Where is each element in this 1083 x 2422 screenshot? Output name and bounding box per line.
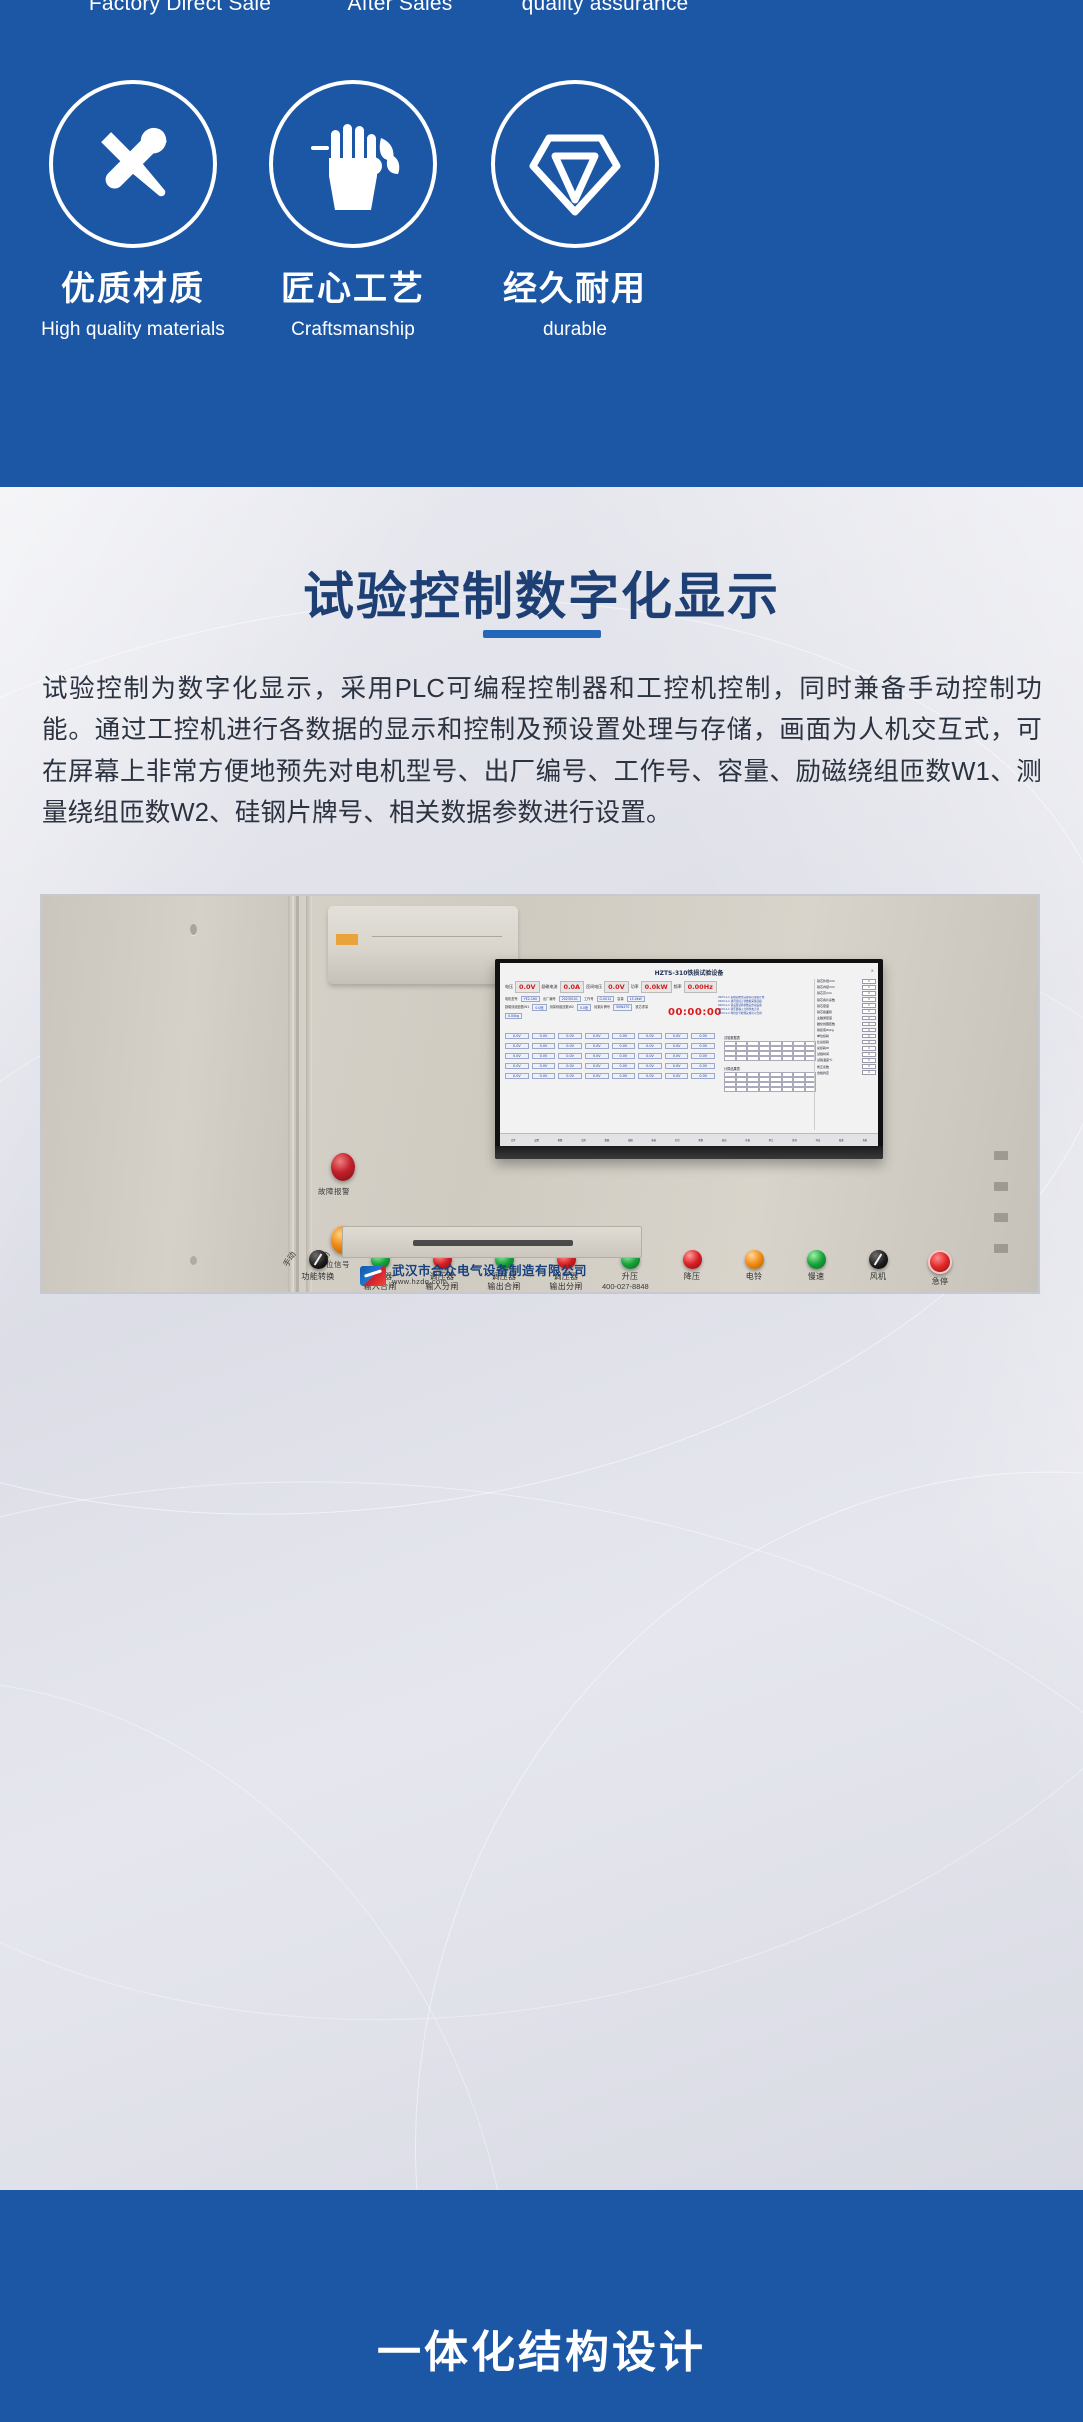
log-line: 2023-1-1 零位信号检测完成可以合闸 — [718, 1012, 818, 1016]
hmi-side-panel: 铁芯外径mm0 铁芯内径mm0 铁芯高mm0 铁芯叠片系数0 铁芯密度0 铁芯截… — [814, 979, 876, 1130]
manufacturer-brand: 武汉市合众电气设备制造有限公司 www.hzdq.com — [360, 1264, 587, 1287]
side-value[interactable]: 0 — [862, 1058, 876, 1063]
table-cell — [736, 1087, 748, 1092]
company-logo-icon — [360, 1266, 386, 1286]
taskbar-label: 参数 — [549, 1138, 571, 1142]
side-label: 比总损耗 — [817, 1040, 829, 1044]
side-label: 修正系数 — [817, 1065, 829, 1069]
cabinet-drawer[interactable] — [342, 1226, 642, 1258]
table-cell — [759, 1056, 771, 1061]
taskbar-button[interactable]: 退出 — [713, 1138, 735, 1142]
taskbar-button[interactable]: 试验 — [572, 1138, 594, 1142]
grid-cell: 0.0V — [665, 1053, 689, 1059]
table-row — [724, 1056, 816, 1061]
hmi-event-log: 2023-1-1 系统初始化完成等待试验开始 2023-1-1 通讯连接正常数据… — [718, 996, 818, 1026]
taskbar-label: 数据 — [596, 1138, 618, 1142]
table-cell — [770, 1056, 782, 1061]
meter-value-freq: 0.00Hz — [684, 981, 717, 993]
taskbar-button[interactable]: 打印 — [666, 1138, 688, 1142]
side-row: 铁芯高mm0 — [817, 991, 876, 996]
param-value[interactable]: 0.0匝 — [532, 1004, 546, 1011]
button-slow-speed[interactable]: 慢速 — [786, 1250, 846, 1282]
feature-columns: 优质材质 High quality materials — [0, 80, 1083, 400]
table-cell — [793, 1056, 805, 1061]
hmi-data-table: 试验数据表 计算结果表 — [724, 1035, 816, 1092]
control-cabinet-photo: HZTS-310铁损试验设备 × 电压 0.0V 励磁电流 0.0A 匝间电压 … — [40, 894, 1040, 1294]
fault-alarm-label: 故障报警 — [318, 1186, 350, 1197]
grid-cell: 0.0V — [612, 1073, 636, 1079]
button-emergency-stop[interactable]: 急停 — [910, 1250, 970, 1287]
diamond-check-icon — [491, 80, 659, 248]
param-label: 电机型号 — [505, 996, 518, 1002]
cabinet-left-door — [42, 896, 299, 1294]
param-label: 工作号 — [584, 996, 594, 1002]
vent-slot — [994, 1151, 1008, 1160]
grid-cell: 0.0V — [505, 1073, 529, 1079]
taskbar-button[interactable]: 帮助 — [690, 1138, 712, 1142]
feature-label-en-craftsmanship: Craftsmanship — [238, 319, 468, 341]
taskbar-button[interactable]: 查询 — [783, 1138, 805, 1142]
taskbar-label: 退出 — [713, 1138, 735, 1142]
grid-cell: 0.0V — [665, 1033, 689, 1039]
side-value[interactable]: 0 — [862, 1040, 876, 1045]
grid-cell: 0.0V — [558, 1063, 582, 1069]
taskbar-button[interactable]: 参数 — [549, 1138, 571, 1142]
feature-item-craftsmanship: 匠心工艺 Craftsmanship — [238, 80, 468, 341]
vent-slot — [994, 1244, 1008, 1253]
param-value[interactable]: YE2-160 — [521, 996, 540, 1002]
side-row: 铁芯内径mm0 — [817, 985, 876, 990]
grid-cell: 0.0V — [558, 1043, 582, 1049]
grid-cell: 0.0V — [665, 1063, 689, 1069]
side-label: 合格判定 — [817, 1071, 829, 1075]
side-value[interactable]: 0 — [862, 1016, 876, 1021]
table-cell — [770, 1087, 782, 1092]
bottom-section-band: 一体化结构设计 — [0, 2190, 1083, 2422]
handle-seam — [372, 936, 502, 937]
taskbar-button[interactable]: 系统 — [854, 1138, 876, 1142]
cabinet-lock-icon — [190, 924, 197, 935]
table-cell — [736, 1056, 748, 1061]
taskbar-button[interactable]: 曲线 — [619, 1138, 641, 1142]
side-label: 磁化线圈匝数 — [817, 1022, 835, 1026]
side-value[interactable]: 0 — [862, 1028, 876, 1033]
taskbar-button[interactable]: 导出 — [807, 1138, 829, 1142]
header-quality-assurance: quality assurance — [455, 0, 755, 16]
brand-text-block: 武汉市合众电气设备制造有限公司 www.hzdq.com — [392, 1264, 587, 1287]
feature-label-en-durable: durable — [460, 319, 690, 341]
grid-cell: 0.0V — [505, 1043, 529, 1049]
side-value[interactable]: 0 — [862, 979, 876, 984]
param-label: 励磁绕组匝数W1 — [505, 1004, 529, 1011]
grid-cell: 0.0V — [691, 1073, 715, 1079]
grid-cell: 0.0V — [585, 1073, 609, 1079]
grid-cell: 0.0V — [612, 1033, 636, 1039]
top-english-headers: Factory Direct Sale After Sales quality … — [0, 0, 1083, 26]
taskbar-button[interactable]: 校准 — [830, 1138, 852, 1142]
cabinet-lock-icon — [190, 1256, 197, 1265]
section-body-text: 试验控制为数字化显示，采用PLC可编程控制器和工控机控制，同时兼备手动控制功能。… — [42, 669, 1042, 834]
side-value[interactable]: 0 — [862, 1022, 876, 1027]
side-row: 总损耗W0 — [817, 1046, 876, 1051]
taskbar-label: 系统 — [854, 1138, 876, 1142]
side-row: 铁芯密度0 — [817, 1003, 876, 1008]
meter-label-current: 励磁电流 — [542, 984, 558, 990]
param-label: 测量绕组匝数W2 — [550, 1004, 574, 1011]
grid-cell: 0.0V — [638, 1063, 662, 1069]
param-value[interactable]: G-0012 — [597, 996, 615, 1002]
side-label: 主磁通密度 — [817, 1016, 832, 1020]
taskbar-button[interactable]: 文件 — [502, 1138, 524, 1142]
taskbar-label: 文件 — [502, 1138, 524, 1142]
button-fan[interactable]: 风机 — [848, 1250, 908, 1282]
meter-label-turnvolt: 匝间电压 — [586, 984, 602, 990]
taskbar-label: 帮助 — [690, 1138, 712, 1142]
hmi-taskbar: 文件 设置 参数 试验 数据 曲线 报表 打印 帮助 退出 开始 停止 查询 导… — [500, 1133, 878, 1146]
result-table-title: 计算结果表 — [724, 1066, 816, 1071]
side-row: 铁损值W/kg0 — [817, 1028, 876, 1033]
meter-label-voltage: 电压 — [505, 984, 513, 990]
side-row: 比总损耗0 — [817, 1040, 876, 1045]
side-value[interactable]: 0 — [862, 1052, 876, 1057]
section-underline — [483, 630, 601, 638]
table-cell — [793, 1087, 805, 1092]
feature-label-cn-materials: 优质材质 — [18, 270, 248, 309]
grid-cell: 0.0V — [505, 1053, 529, 1059]
side-value[interactable]: 0 — [862, 991, 876, 996]
grid-cell: 0.0V — [585, 1053, 609, 1059]
taskbar-label: 查询 — [783, 1138, 805, 1142]
button-label: 功能转换 — [288, 1272, 348, 1282]
param-value[interactable]: 20230101 — [559, 996, 581, 1002]
table-cell — [724, 1087, 736, 1092]
side-value[interactable]: 0 — [862, 1009, 876, 1014]
side-value[interactable]: 0 — [862, 1064, 876, 1069]
company-name: 武汉市合众电气设备制造有限公司 — [392, 1264, 587, 1278]
grid-cell: 0.0V — [532, 1053, 556, 1059]
grid-cell: 0.0V — [691, 1053, 715, 1059]
side-label: 铁芯密度 — [817, 1004, 829, 1008]
top-feature-band: Factory Direct Sale After Sales quality … — [0, 0, 1083, 487]
side-label: 铁损值W/kg — [817, 1028, 834, 1032]
table-cell — [782, 1056, 794, 1061]
side-label: 总损耗W — [817, 1046, 829, 1050]
grid-cell: 0.0V — [612, 1043, 636, 1049]
button-label: 升压 — [600, 1272, 660, 1282]
table-cell — [759, 1087, 771, 1092]
hmi-close-icon[interactable]: × — [871, 968, 874, 973]
cabinet-top-handle — [328, 906, 518, 984]
industrial-pc-monitor: HZTS-310铁损试验设备 × 电压 0.0V 励磁电流 0.0A 匝间电压 … — [495, 959, 883, 1159]
side-value[interactable]: 0 — [862, 997, 876, 1002]
green-lamp-icon — [807, 1250, 826, 1269]
grid-cell: 0.0V — [532, 1073, 556, 1079]
grid-cell: 0.0V — [665, 1043, 689, 1049]
param-value[interactable]: 0.00kg — [505, 1013, 522, 1019]
taskbar-button[interactable]: 开始 — [736, 1138, 758, 1142]
side-value[interactable]: 0 — [862, 985, 876, 990]
red-lamp-icon — [683, 1250, 702, 1269]
button-label: 慢速 — [786, 1272, 846, 1282]
grid-cell: 0.0V — [638, 1043, 662, 1049]
button-function-switch[interactable]: 功能转换 — [288, 1250, 348, 1282]
button-label: 急停 — [910, 1277, 970, 1287]
taskbar-label: 停止 — [760, 1138, 782, 1142]
taskbar-label: 试验 — [572, 1138, 594, 1142]
company-phone: 400-027-8848 — [602, 1282, 649, 1291]
grid-row: 0.0V 0.0V 0.0V 0.0V 0.0V 0.0V 0.0V 0.0V — [505, 1043, 715, 1049]
side-row: 铁芯叠片系数0 — [817, 997, 876, 1002]
warning-label — [336, 934, 358, 945]
hmi-parameter-chips: 电机型号 YE2-160 出厂编号 20230101 工作号 G-0012 容量… — [505, 996, 655, 1019]
tools-wrench-screwdriver-icon — [49, 80, 217, 248]
hmi-screen: HZTS-310铁损试验设备 × 电压 0.0V 励磁电流 0.0A 匝间电压 … — [500, 963, 878, 1146]
hmi-elapsed-timer: 00:00:00 — [668, 1007, 722, 1018]
grid-cell: 0.0V — [665, 1073, 689, 1079]
grid-cell: 0.0V — [532, 1033, 556, 1039]
grid-cell: 0.0V — [585, 1063, 609, 1069]
button-label: 电铃 — [724, 1272, 784, 1282]
grid-row: 0.0V 0.0V 0.0V 0.0V 0.0V 0.0V 0.0V 0.0V — [505, 1033, 715, 1039]
side-label: 铁芯高mm — [817, 991, 832, 995]
side-row: 铁芯外径mm0 — [817, 979, 876, 984]
button-label: 降压 — [662, 1272, 722, 1282]
grid-cell: 0.0V — [691, 1033, 715, 1039]
taskbar-label: 打印 — [666, 1138, 688, 1142]
monitor-bezel — [495, 1146, 883, 1159]
taskbar-button[interactable]: 设置 — [525, 1138, 547, 1142]
grid-cell: 0.0V — [505, 1033, 529, 1039]
grid-cell: 0.0V — [585, 1043, 609, 1049]
grid-row: 0.0V 0.0V 0.0V 0.0V 0.0V 0.0V 0.0V 0.0V — [505, 1053, 715, 1059]
grid-cell: 0.0V — [638, 1073, 662, 1079]
grid-cell: 0.0V — [558, 1053, 582, 1059]
side-label: 试验时间 — [817, 1052, 829, 1056]
orange-lamp-icon — [745, 1250, 764, 1269]
taskbar-button[interactable]: 数据 — [596, 1138, 618, 1142]
side-label: 铁芯外径mm — [817, 979, 835, 983]
grid-cell: 0.0V — [612, 1063, 636, 1069]
meter-label-power: 功率 — [631, 984, 639, 990]
taskbar-button[interactable]: 报表 — [643, 1138, 665, 1142]
side-row: 合格判定0 — [817, 1070, 876, 1075]
side-value[interactable]: 0 — [862, 1070, 876, 1075]
grid-cell: 0.0V — [505, 1063, 529, 1069]
param-value[interactable]: 15.0kW — [627, 996, 645, 1002]
feature-label-cn-craftsmanship: 匠心工艺 — [238, 270, 468, 309]
bottom-section-title: 一体化结构设计 — [0, 2316, 1083, 2380]
vent-slot — [994, 1213, 1008, 1222]
cabinet-door-seam — [306, 896, 312, 1294]
button-label: 风机 — [848, 1272, 908, 1282]
meter-value-voltage: 0.0V — [515, 981, 540, 993]
grid-cell: 0.0V — [612, 1053, 636, 1059]
table-cell — [747, 1087, 759, 1092]
taskbar-label: 校准 — [830, 1138, 852, 1142]
feature-item-durable: 经久耐用 durable — [460, 80, 690, 341]
table-cell — [782, 1087, 794, 1092]
side-value[interactable]: 0 — [862, 1034, 876, 1039]
taskbar-label: 导出 — [807, 1138, 829, 1142]
table-cell — [747, 1056, 759, 1061]
side-label: 铁芯内径mm — [817, 985, 835, 989]
param-value[interactable]: 0.0匝 — [577, 1004, 591, 1011]
side-label: 单位损耗 — [817, 1034, 829, 1038]
company-website: www.hzdq.com — [392, 1278, 587, 1287]
side-row: 单位损耗0 — [817, 1034, 876, 1039]
param-value[interactable]: 50W470 — [613, 1004, 632, 1011]
rotary-knob-icon — [869, 1250, 888, 1269]
product-detail-page: Factory Direct Sale After Sales quality … — [0, 0, 1083, 2422]
meter-value-power: 0.0kW — [641, 981, 672, 993]
param-label: 硅钢片牌号 — [594, 1004, 610, 1011]
grid-cell: 0.0V — [638, 1053, 662, 1059]
cabinet-side-vents — [994, 1151, 1008, 1275]
hmi-title: HZTS-310铁损试验设备 — [500, 968, 878, 977]
data-table-title: 试验数据表 — [724, 1035, 816, 1040]
button-bell[interactable]: 电铃 — [724, 1250, 784, 1282]
side-label: 铁芯截面积 — [817, 1010, 832, 1014]
gloved-hand-wheat-icon — [269, 80, 437, 248]
grid-cell: 0.0V — [558, 1033, 582, 1039]
side-label: 铁芯叠片系数 — [817, 998, 835, 1002]
meter-value-turnvolt: 0.0V — [604, 981, 629, 993]
taskbar-label: 曲线 — [619, 1138, 641, 1142]
feature-label-cn-durable: 经久耐用 — [460, 270, 690, 309]
grid-cell: 0.0V — [532, 1063, 556, 1069]
taskbar-label: 报表 — [643, 1138, 665, 1142]
param-label: 铁芯重量 — [635, 1004, 648, 1011]
side-row: 试验温度℃0 — [817, 1058, 876, 1063]
meter-value-current: 0.0A — [560, 981, 585, 993]
side-row: 修正系数0 — [817, 1064, 876, 1069]
table-row — [724, 1087, 816, 1092]
grid-cell: 0.0V — [638, 1033, 662, 1039]
table-cell — [724, 1056, 736, 1061]
side-label: 试验温度℃ — [817, 1058, 832, 1062]
vent-slot — [994, 1182, 1008, 1191]
meter-label-freq: 频率 — [674, 984, 682, 990]
param-label: 出厂编号 — [543, 996, 556, 1002]
grid-row: 0.0V 0.0V 0.0V 0.0V 0.0V 0.0V 0.0V 0.0V — [505, 1073, 715, 1079]
grid-cell: 0.0V — [691, 1043, 715, 1049]
taskbar-label: 开始 — [736, 1138, 758, 1142]
feature-item-materials: 优质材质 High quality materials — [18, 80, 248, 341]
grid-row: 0.0V 0.0V 0.0V 0.0V 0.0V 0.0V 0.0V 0.0V — [505, 1063, 715, 1069]
taskbar-label: 设置 — [525, 1138, 547, 1142]
section-title: 试验控制数字化显示 — [0, 555, 1083, 629]
side-row: 主磁通密度0 — [817, 1016, 876, 1021]
taskbar-button[interactable]: 停止 — [760, 1138, 782, 1142]
fault-alarm-lamp[interactable] — [331, 1153, 355, 1181]
grid-cell: 0.0V — [691, 1063, 715, 1069]
param-label: 容量 — [617, 996, 623, 1002]
grid-cell: 0.0V — [558, 1073, 582, 1079]
button-voltage-down[interactable]: 降压 — [662, 1250, 722, 1282]
side-value[interactable]: 0 — [862, 1046, 876, 1051]
rotary-knob-icon — [309, 1250, 328, 1269]
feature-label-en-materials: High quality materials — [18, 319, 248, 341]
side-row: 试验时间0 — [817, 1052, 876, 1057]
hmi-measurement-grid: 0.0V 0.0V 0.0V 0.0V 0.0V 0.0V 0.0V 0.0V … — [505, 1033, 715, 1083]
hmi-meter-row: 电压 0.0V 励磁电流 0.0A 匝间电压 0.0V 功率 0.0kW 频率 … — [505, 980, 806, 993]
side-row: 磁化线圈匝数0 — [817, 1022, 876, 1027]
digital-display-section: 试验控制数字化显示 试验控制为数字化显示，采用PLC可编程控制器和工控机控制，同… — [0, 487, 1083, 2406]
grid-cell: 0.0V — [532, 1043, 556, 1049]
side-row: 铁芯截面积0 — [817, 1009, 876, 1014]
grid-cell: 0.0V — [585, 1033, 609, 1039]
emergency-stop-icon — [928, 1250, 952, 1274]
side-value[interactable]: 0 — [862, 1003, 876, 1008]
